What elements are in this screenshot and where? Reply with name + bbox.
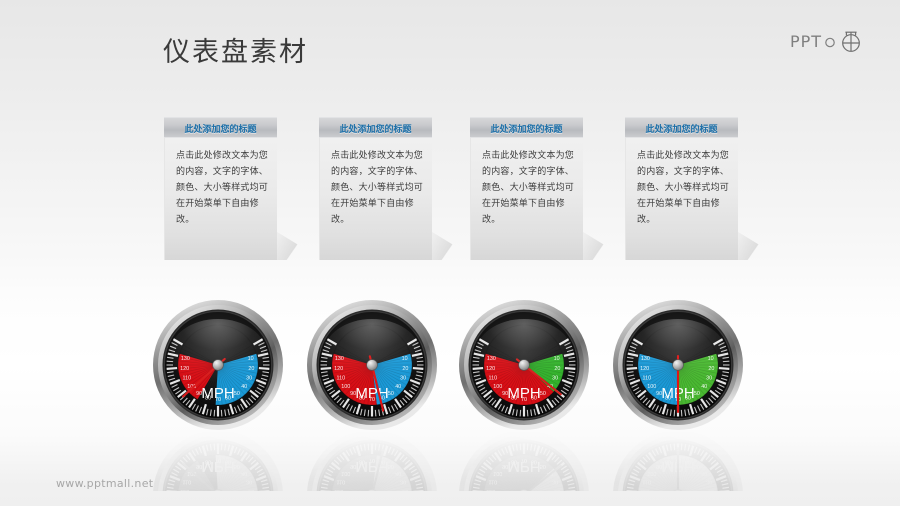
svg-text:100: 100 xyxy=(187,470,196,476)
svg-text:40: 40 xyxy=(395,470,401,476)
svg-text:20: 20 xyxy=(554,488,560,491)
circle-icon xyxy=(824,34,836,48)
svg-text:MPH: MPH xyxy=(507,458,540,475)
svg-text:20: 20 xyxy=(402,488,408,491)
gauge-face: 102030405060708090100110120130MPH xyxy=(612,299,744,431)
svg-text:90: 90 xyxy=(196,463,202,469)
footer-url: www.pptmall.net xyxy=(56,477,153,490)
svg-text:40: 40 xyxy=(701,384,707,390)
gauge-widget[interactable]: 102030405060708090100110120130MPH 102030… xyxy=(612,299,744,431)
svg-text:MPH: MPH xyxy=(355,385,388,402)
gauge-face: 102030405060708090100110120130MPH xyxy=(152,299,284,431)
svg-text:110: 110 xyxy=(489,478,498,484)
crossed-circle-icon xyxy=(838,29,864,53)
svg-text:120: 120 xyxy=(640,488,649,491)
svg-text:40: 40 xyxy=(395,384,401,390)
svg-text:50: 50 xyxy=(540,391,546,397)
card-header: 此处添加您的标题 xyxy=(319,117,432,138)
svg-text:110: 110 xyxy=(643,478,652,484)
svg-text:100: 100 xyxy=(341,384,350,390)
card-body-text: 点击此处修改文本为您的内容，文字的字体、颜色、大小等样式均可在开始菜单下自由修改… xyxy=(331,148,423,228)
gauge-face: 102030405060708090100110120130MPH xyxy=(458,299,590,431)
svg-text:110: 110 xyxy=(337,478,346,484)
text-card[interactable]: 此处添加您的标题 点击此处修改文本为您的内容，文字的字体、颜色、大小等样式均可在… xyxy=(164,117,277,260)
svg-text:80: 80 xyxy=(359,459,365,465)
svg-text:80: 80 xyxy=(665,459,671,465)
card-title: 此处添加您的标题 xyxy=(184,122,256,135)
svg-text:50: 50 xyxy=(540,463,546,469)
svg-text:30: 30 xyxy=(706,478,712,484)
svg-text:40: 40 xyxy=(701,470,707,476)
card-title: 此处添加您的标题 xyxy=(339,122,411,135)
gauge-widget[interactable]: 102030405060708090100110120130MPH 102030… xyxy=(306,299,438,431)
card-drop-shadow xyxy=(583,193,629,260)
svg-text:40: 40 xyxy=(241,470,247,476)
svg-text:50: 50 xyxy=(388,391,394,397)
page-title: 仪表盘素材 xyxy=(163,30,308,69)
card-body: 点击此处修改文本为您的内容，文字的字体、颜色、大小等样式均可在开始菜单下自由修改… xyxy=(470,138,583,260)
card-body: 点击此处修改文本为您的内容，文字的字体、颜色、大小等样式均可在开始菜单下自由修改… xyxy=(319,138,432,260)
card-body-text: 点击此处修改文本为您的内容，文字的字体、颜色、大小等样式均可在开始菜单下自由修改… xyxy=(176,148,268,228)
svg-text:30: 30 xyxy=(246,478,252,484)
gauge-widget[interactable]: 102030405060708090100110120130MPH 102030… xyxy=(152,299,284,431)
svg-text:20: 20 xyxy=(248,488,254,491)
svg-text:80: 80 xyxy=(511,459,517,465)
card-title: 此处添加您的标题 xyxy=(490,122,562,135)
gauge-reflection: 102030405060708090100110120130MPH xyxy=(152,429,284,491)
card-body: 点击此处修改文本为您的内容，文字的字体、颜色、大小等样式均可在开始菜单下自由修改… xyxy=(164,138,277,260)
gauge-reflection: 102030405060708090100110120130MPH xyxy=(458,429,590,491)
svg-text:40: 40 xyxy=(547,470,553,476)
svg-text:30: 30 xyxy=(400,478,406,484)
svg-text:MPH: MPH xyxy=(201,385,234,402)
svg-text:120: 120 xyxy=(486,488,495,491)
text-card[interactable]: 此处添加您的标题 点击此处修改文本为您的内容，文字的字体、颜色、大小等样式均可在… xyxy=(470,117,583,260)
svg-text:80: 80 xyxy=(205,459,211,465)
svg-text:40: 40 xyxy=(241,384,247,390)
gauge-reflection: 102030405060708090100110120130MPH xyxy=(612,429,744,491)
svg-text:50: 50 xyxy=(388,463,394,469)
gauge-face: 102030405060708090100110120130MPH xyxy=(306,299,438,431)
svg-text:MPH: MPH xyxy=(661,458,694,475)
card-body-text: 点击此处修改文本为您的内容，文字的字体、颜色、大小等样式均可在开始菜单下自由修改… xyxy=(637,148,729,228)
card-header: 此处添加您的标题 xyxy=(164,117,277,138)
gauge-reflection: 102030405060708090100110120130MPH xyxy=(306,429,438,491)
svg-text:50: 50 xyxy=(234,463,240,469)
svg-text:70: 70 xyxy=(369,457,375,463)
svg-text:120: 120 xyxy=(334,488,343,491)
card-header: 此处添加您的标题 xyxy=(470,117,583,138)
svg-text:70: 70 xyxy=(215,457,221,463)
svg-text:70: 70 xyxy=(675,457,681,463)
gauge-widget[interactable]: 102030405060708090100110120130MPH 102030… xyxy=(458,299,590,431)
svg-text:100: 100 xyxy=(493,384,502,390)
svg-text:30: 30 xyxy=(552,478,558,484)
card-body: 点击此处修改文本为您的内容，文字的字体、颜色、大小等样式均可在开始菜单下自由修改… xyxy=(625,138,738,260)
svg-text:50: 50 xyxy=(694,463,700,469)
svg-text:100: 100 xyxy=(647,470,656,476)
svg-text:100: 100 xyxy=(493,470,502,476)
text-card[interactable]: 此处添加您的标题 点击此处修改文本为您的内容，文字的字体、颜色、大小等样式均可在… xyxy=(625,117,738,260)
svg-text:100: 100 xyxy=(341,470,350,476)
card-header: 此处添加您的标题 xyxy=(625,117,738,138)
text-card[interactable]: 此处添加您的标题 点击此处修改文本为您的内容，文字的字体、颜色、大小等样式均可在… xyxy=(319,117,432,260)
brand-logo-text: PPT xyxy=(790,32,822,51)
svg-text:90: 90 xyxy=(502,463,508,469)
svg-text:MPH: MPH xyxy=(201,458,234,475)
slide-canvas: 仪表盘素材 PPT 此处添加您的标题 点击此处修改文本为您的内容，文字的字体、颜… xyxy=(0,0,900,506)
card-title: 此处添加您的标题 xyxy=(645,122,717,135)
svg-text:50: 50 xyxy=(694,391,700,397)
card-drop-shadow xyxy=(277,193,323,260)
card-body-text: 点击此处修改文本为您的内容，文字的字体、颜色、大小等样式均可在开始菜单下自由修改… xyxy=(482,148,574,228)
brand-logo: PPT xyxy=(790,29,864,53)
svg-text:50: 50 xyxy=(234,391,240,397)
svg-text:MPH: MPH xyxy=(507,385,540,402)
svg-text:70: 70 xyxy=(521,457,527,463)
svg-text:90: 90 xyxy=(656,463,662,469)
svg-text:100: 100 xyxy=(647,384,656,390)
svg-text:MPH: MPH xyxy=(355,458,388,475)
card-drop-shadow xyxy=(738,193,784,260)
svg-text:60: 60 xyxy=(531,459,537,465)
svg-text:110: 110 xyxy=(183,478,192,484)
svg-text:20: 20 xyxy=(708,488,714,491)
svg-text:60: 60 xyxy=(379,459,385,465)
svg-text:60: 60 xyxy=(225,459,231,465)
svg-text:60: 60 xyxy=(685,459,691,465)
svg-text:120: 120 xyxy=(180,488,189,491)
svg-text:90: 90 xyxy=(350,463,356,469)
